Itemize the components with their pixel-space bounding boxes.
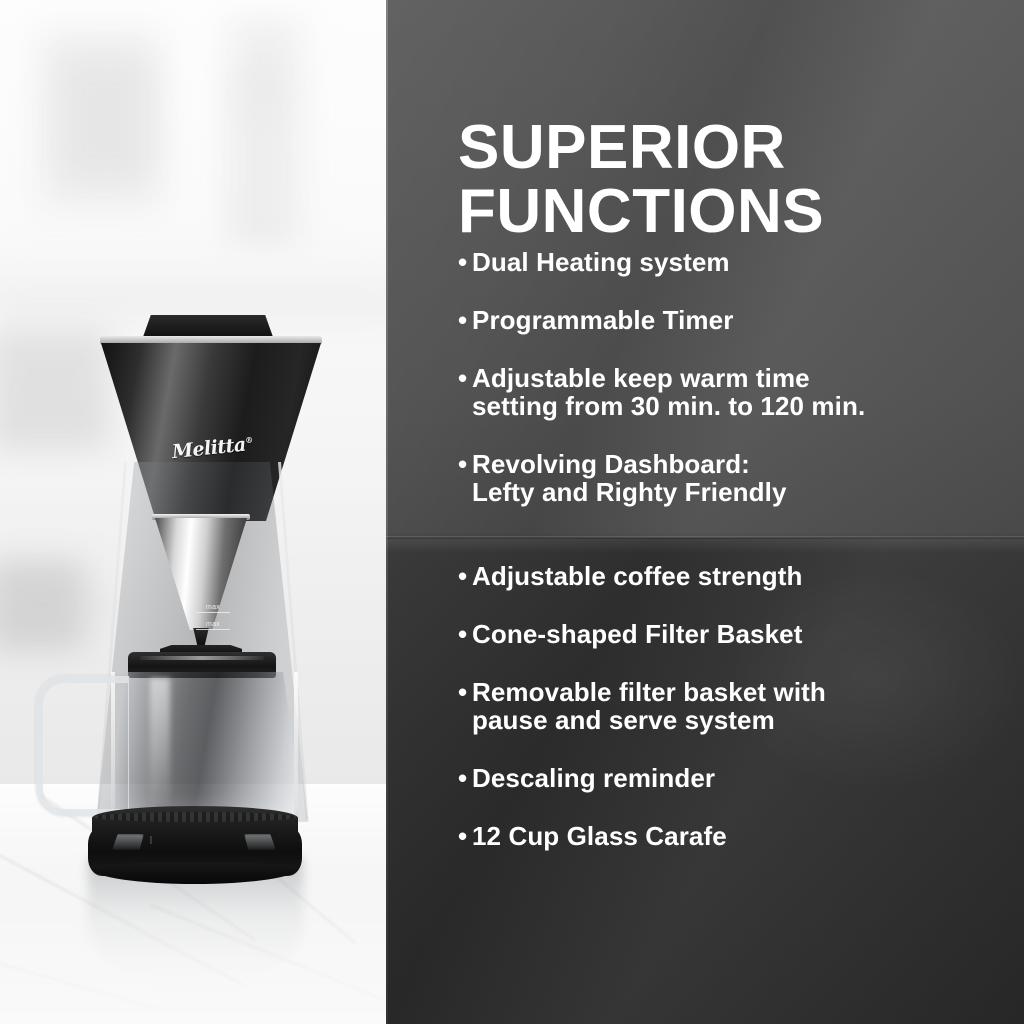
carafe-level-mark: max (196, 621, 230, 630)
feature-list-item: •Revolving Dashboard: Lefty and Righty F… (458, 450, 1004, 506)
feature-list-item-label: Descaling reminder (472, 764, 715, 792)
bullet-point-icon: • (458, 764, 472, 792)
carafe-lid-highlight (140, 656, 264, 660)
feature-list-item-label: Cone-shaped Filter Basket (472, 620, 802, 648)
feature-list-item-label: Dual Heating system (472, 248, 730, 276)
feature-list-item-label: Adjustable coffee strength (472, 562, 803, 590)
bullet-point-icon: • (458, 822, 472, 850)
feature-list-item: •Cone-shaped Filter Basket (458, 620, 1004, 648)
carafe-level-rule (196, 629, 230, 630)
feature-list-item-label: 12 Cup Glass Carafe (472, 822, 727, 850)
carafe-level-mark: max (196, 604, 230, 613)
page-title: SUPERIOR FUNCTIONS (458, 116, 998, 245)
base-control-detail (150, 836, 240, 844)
feature-list-item-label: Programmable Timer (472, 306, 733, 334)
base-ring-detail (94, 812, 296, 822)
product-feature-graphic: Melitta® max max (0, 0, 1024, 1024)
feature-list-primary: •Dual Heating system•Programmable Timer•… (458, 248, 1004, 536)
product-photo-panel: Melitta® max max (0, 0, 386, 1024)
bullet-point-icon: • (458, 620, 472, 648)
feature-list-item: •Descaling reminder (458, 764, 1004, 792)
feature-list-item: •Removable filter basket with pause and … (458, 678, 1004, 734)
features-panel: SUPERIOR FUNCTIONS •Dual Heating system•… (386, 0, 1024, 1024)
feature-list-item: •Adjustable keep warm time setting from … (458, 364, 1004, 420)
carafe-edge (294, 672, 298, 820)
feature-list-item-label: Removable filter basket with pause and s… (472, 678, 826, 734)
bullet-point-icon: • (458, 248, 472, 276)
bullet-point-icon: • (458, 364, 472, 392)
coffee-maker-product-image: Melitta® max max (0, 0, 386, 1024)
feature-list-item: •Programmable Timer (458, 306, 1004, 334)
feature-list-secondary: •Adjustable coffee strength•Cone-shaped … (458, 562, 1004, 880)
panel-left-edge (386, 0, 388, 1024)
bullet-point-icon: • (458, 678, 472, 706)
carafe-highlight (150, 678, 170, 806)
feature-list-item-label: Adjustable keep warm time setting from 3… (472, 364, 865, 420)
water-tank-lid (143, 315, 273, 337)
carafe-level-label: max (206, 604, 220, 611)
carafe-level-label: max (206, 621, 220, 628)
feature-list-item: •12 Cup Glass Carafe (458, 822, 1004, 850)
bullet-point-icon: • (458, 306, 472, 334)
bullet-point-icon: • (458, 562, 472, 590)
carafe-handle (36, 676, 129, 816)
feature-list-item-label: Revolving Dashboard: Lefty and Righty Fr… (472, 450, 787, 506)
feature-list-item: •Adjustable coffee strength (458, 562, 1004, 590)
base-foot (92, 862, 298, 884)
bullet-point-icon: • (458, 450, 472, 478)
registered-trademark-icon: ® (245, 434, 254, 445)
glass-carafe (112, 672, 298, 820)
feature-list-item: •Dual Heating system (458, 248, 1004, 276)
carafe-level-rule (196, 612, 230, 613)
